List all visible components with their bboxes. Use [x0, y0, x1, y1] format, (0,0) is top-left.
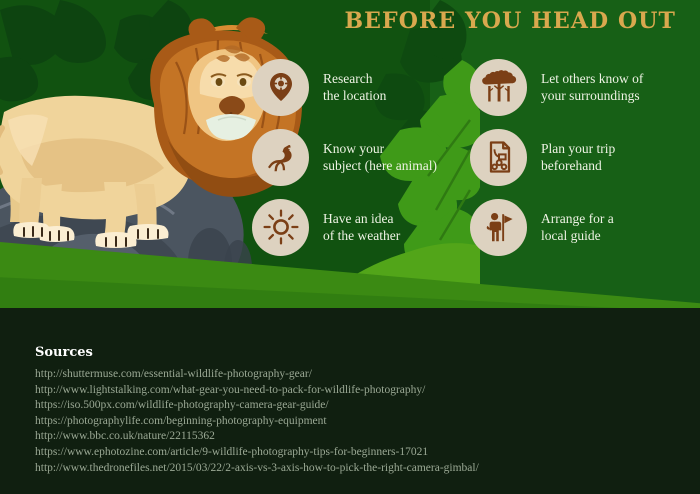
tip-line-2: the location	[323, 87, 386, 104]
tip-icon-badge	[470, 129, 527, 186]
kangaroo-animal-icon	[264, 140, 298, 174]
tip-know-your-subject[interactable]: Know your subject (here animal)	[252, 122, 437, 192]
tip-line-1: Research	[323, 70, 386, 87]
source-link[interactable]: http://www.thedronefiles.net/2015/03/22/…	[35, 461, 479, 477]
tip-label: Research the location	[323, 70, 386, 104]
infographic-page: BEFORE YOU HEAD OUT	[0, 0, 700, 494]
source-link[interactable]: https://www.ephotozine.com/article/9-wil…	[35, 445, 479, 461]
tip-line-1: Let others know of	[541, 70, 643, 87]
source-link[interactable]: https://photographylife.com/beginning-ph…	[35, 414, 479, 430]
source-link[interactable]: https://iso.500px.com/wildlife-photograp…	[35, 398, 479, 414]
tip-icon-badge	[252, 59, 309, 116]
person-with-flag-guide-icon	[482, 210, 516, 244]
map-pin-location-icon	[264, 70, 298, 104]
tip-icon-badge	[252, 129, 309, 186]
hero-panel: BEFORE YOU HEAD OUT	[0, 0, 700, 308]
document-flowchart-plan-icon	[482, 140, 516, 174]
tip-weather[interactable]: Have an idea of the weather	[252, 192, 437, 262]
tip-line-1: Arrange for a	[541, 210, 614, 227]
sources-list: http://shuttermuse.com/essential-wildlif…	[35, 367, 479, 476]
trees-icon	[481, 70, 517, 104]
source-link[interactable]: http://shuttermuse.com/essential-wildlif…	[35, 367, 479, 383]
tip-line-1: Plan your trip	[541, 140, 615, 157]
tip-line-1: Know your	[323, 140, 437, 157]
tip-label: Arrange for a local guide	[541, 210, 614, 244]
tip-label: Let others know of your surroundings	[541, 70, 643, 104]
tip-label: Know your subject (here animal)	[323, 140, 437, 174]
tips-column-left: Research the location	[252, 52, 437, 262]
tip-icon-badge	[470, 59, 527, 116]
tip-line-2: your surroundings	[541, 87, 643, 104]
tip-line-2: subject (here animal)	[323, 157, 437, 174]
tip-line-2: local guide	[541, 227, 614, 244]
page-title: BEFORE YOU HEAD OUT	[344, 8, 676, 34]
tip-icon-badge	[252, 199, 309, 256]
tip-label: Plan your trip beforehand	[541, 140, 615, 174]
tip-label: Have an idea of the weather	[323, 210, 400, 244]
sources-heading: Sources	[35, 345, 93, 360]
tips-column-right: Let others know of your surroundings	[470, 52, 643, 262]
sun-weather-icon	[263, 209, 299, 245]
tip-local-guide[interactable]: Arrange for a local guide	[470, 192, 643, 262]
source-link[interactable]: http://www.lightstalking.com/what-gear-y…	[35, 383, 479, 399]
source-link[interactable]: http://www.bbc.co.uk/nature/22115362	[35, 429, 479, 445]
tip-line-2: beforehand	[541, 157, 615, 174]
tip-research-location[interactable]: Research the location	[252, 52, 437, 122]
tip-line-1: Have an idea	[323, 210, 400, 227]
footer-panel: Sources http://shuttermuse.com/essential…	[0, 308, 700, 494]
tip-line-2: of the weather	[323, 227, 400, 244]
tip-icon-badge	[470, 199, 527, 256]
tip-plan-your-trip[interactable]: Plan your trip beforehand	[470, 122, 643, 192]
tip-let-others-know[interactable]: Let others know of your surroundings	[470, 52, 643, 122]
